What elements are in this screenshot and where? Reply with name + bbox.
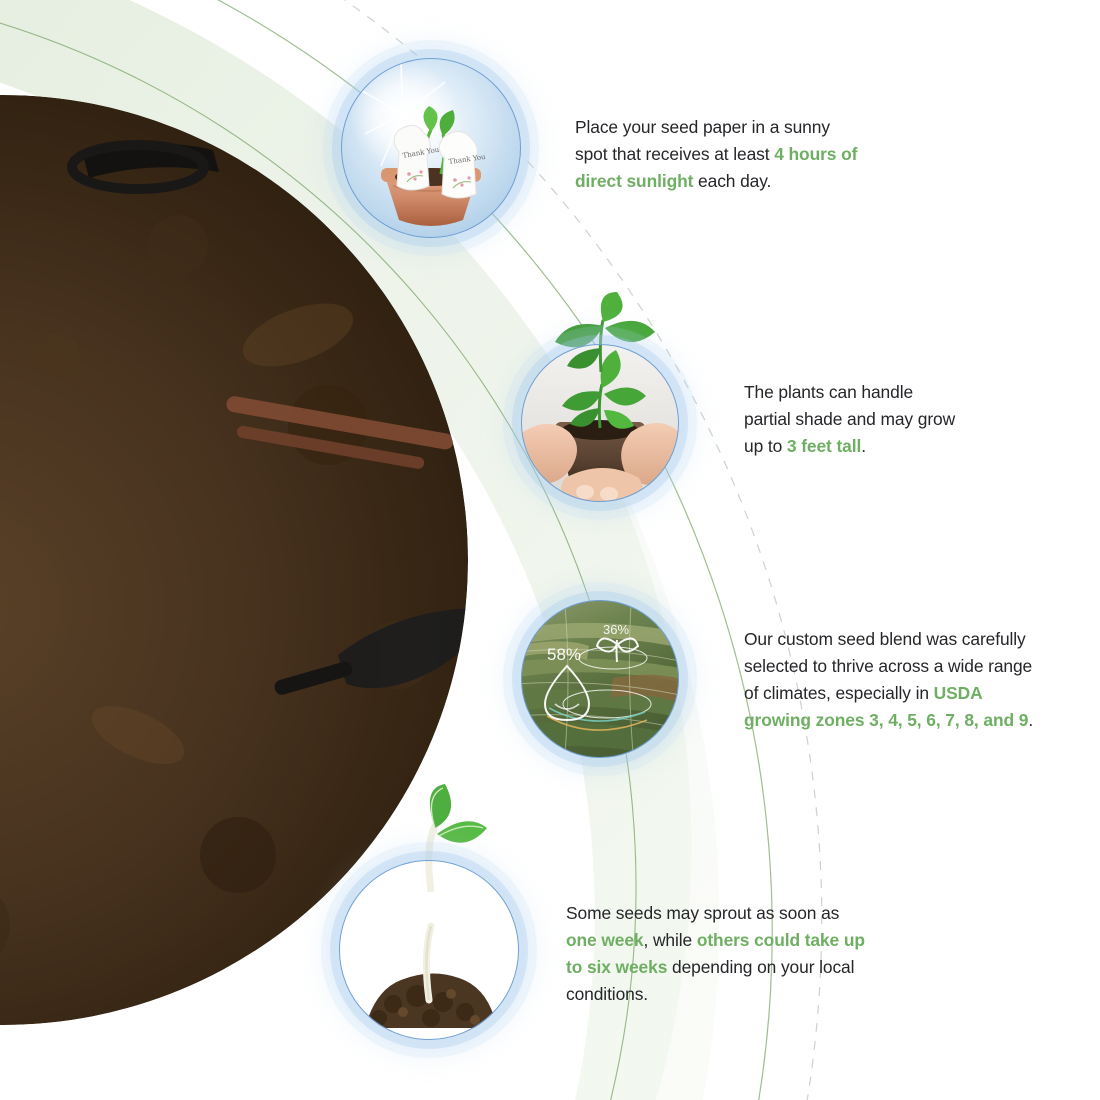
- copy-accent: one week: [566, 930, 644, 950]
- potted-plant-scene: [521, 344, 679, 502]
- copy-accent: 3 feet tall: [787, 436, 861, 456]
- copy-run: .: [1028, 710, 1033, 730]
- sunlight-scene: Thank You Thank You: [341, 58, 521, 238]
- step-text-sunlight: Place your seed paper in a sunny spot th…: [575, 114, 867, 195]
- step-text-height: The plants can handle partial shade and …: [744, 379, 956, 460]
- step-image-zones: 36% 58%: [521, 600, 679, 758]
- farmland-aerial-scene: 36% 58%: [521, 600, 679, 758]
- copy-run: .: [861, 436, 866, 456]
- growth-percent-label: 36%: [603, 622, 629, 637]
- copy-run: each day.: [693, 171, 771, 191]
- step-text-zones: Our custom seed blend was carefully sele…: [744, 626, 1044, 734]
- moisture-percent-label: 58%: [547, 645, 581, 664]
- sprout-soil-scene: [339, 860, 519, 1040]
- copy-run: , while: [644, 930, 697, 950]
- step-image-germination: [339, 860, 519, 1040]
- step-image-height: [521, 344, 679, 502]
- planting-guide-infographic: Planting guide just be patient blooms ar…: [0, 0, 1100, 1100]
- step-image-sunlight: Thank You Thank You: [341, 58, 521, 238]
- step-text-germination: Some seeds may sprout as soon as one wee…: [566, 900, 866, 1008]
- copy-run: Some seeds may sprout as soon as: [566, 903, 839, 923]
- copy-run: Our custom seed blend was carefully sele…: [744, 629, 1032, 703]
